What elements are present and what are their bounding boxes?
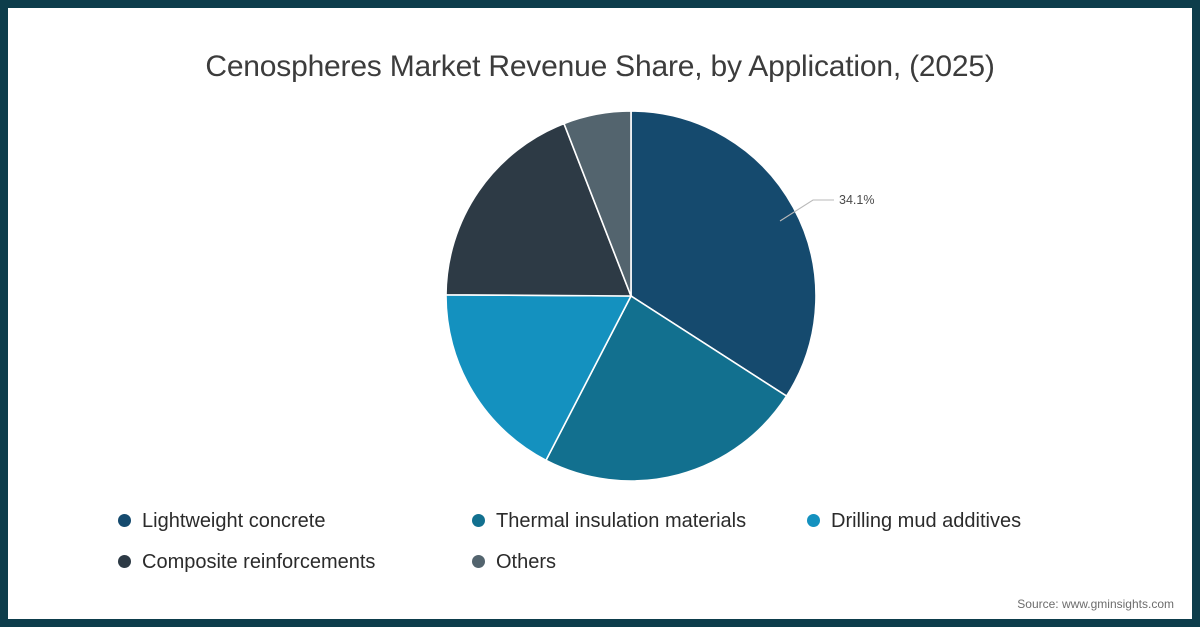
legend-item-drilling-mud-additives[interactable]: Drilling mud additives [807, 511, 1021, 531]
legend-item-lightweight-concrete[interactable]: Lightweight concrete [118, 511, 472, 531]
source-attribution: Source: www.gminsights.com [1017, 597, 1174, 611]
chart-page: Cenospheres Market Revenue Share, by App… [0, 0, 1200, 627]
pie-slice-group [446, 111, 816, 481]
legend-swatch-icon [118, 555, 131, 568]
legend-item-label: Drilling mud additives [831, 511, 1021, 531]
legend-item-label: Composite reinforcements [142, 552, 375, 572]
legend: Lightweight concrete Thermal insulation … [8, 500, 1192, 582]
legend-item-label: Others [496, 552, 556, 572]
legend-swatch-icon [118, 514, 131, 527]
legend-swatch-icon [472, 514, 485, 527]
legend-row: Composite reinforcements Others [8, 541, 1192, 582]
slice-data-label: 34.1% [839, 193, 874, 207]
legend-item-composite-reinforcements[interactable]: Composite reinforcements [118, 552, 472, 572]
chart-canvas: Cenospheres Market Revenue Share, by App… [8, 8, 1192, 619]
legend-item-label: Thermal insulation materials [496, 511, 746, 531]
legend-swatch-icon [807, 514, 820, 527]
legend-row: Lightweight concrete Thermal insulation … [8, 500, 1192, 541]
legend-item-thermal-insulation-materials[interactable]: Thermal insulation materials [472, 511, 807, 531]
legend-swatch-icon [472, 555, 485, 568]
legend-item-others[interactable]: Others [472, 552, 556, 572]
legend-item-label: Lightweight concrete [142, 511, 325, 531]
